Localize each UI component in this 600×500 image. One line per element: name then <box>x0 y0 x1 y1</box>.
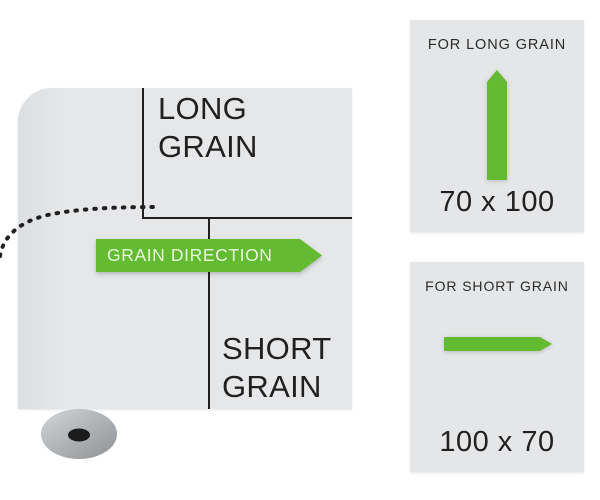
panel-long-grain-size: 70 x 100 <box>439 186 554 219</box>
arrow-up-icon <box>486 70 508 180</box>
panel-short-grain-figure <box>410 294 584 426</box>
divider-horizontal <box>142 217 352 219</box>
short-grain-label: SHORT GRAIN <box>222 330 331 406</box>
panel-long-grain-figure <box>410 53 584 186</box>
paper-grain-diagram: LONG GRAIN SHORT GRAIN GRAIN DIRECTION <box>0 0 400 500</box>
long-grain-label: LONG GRAIN <box>158 90 258 166</box>
panel-long-grain: FOR LONG GRAIN 70 x 100 <box>410 20 584 232</box>
panel-long-grain-title: FOR LONG GRAIN <box>428 37 566 53</box>
panel-short-grain-title: FOR SHORT GRAIN <box>425 278 569 294</box>
divider-vertical-top <box>142 88 144 219</box>
grain-direction-label: GRAIN DIRECTION <box>96 245 273 266</box>
paper-roll-end-icon <box>40 408 118 460</box>
panel-short-grain: FOR SHORT GRAIN 100 x 70 <box>410 262 584 472</box>
arrow-right-icon <box>444 336 552 352</box>
grain-direction-banner: GRAIN DIRECTION <box>96 239 322 272</box>
grain-direction-arrow-icon: GRAIN DIRECTION <box>96 239 322 272</box>
panel-short-grain-size: 100 x 70 <box>439 426 554 459</box>
